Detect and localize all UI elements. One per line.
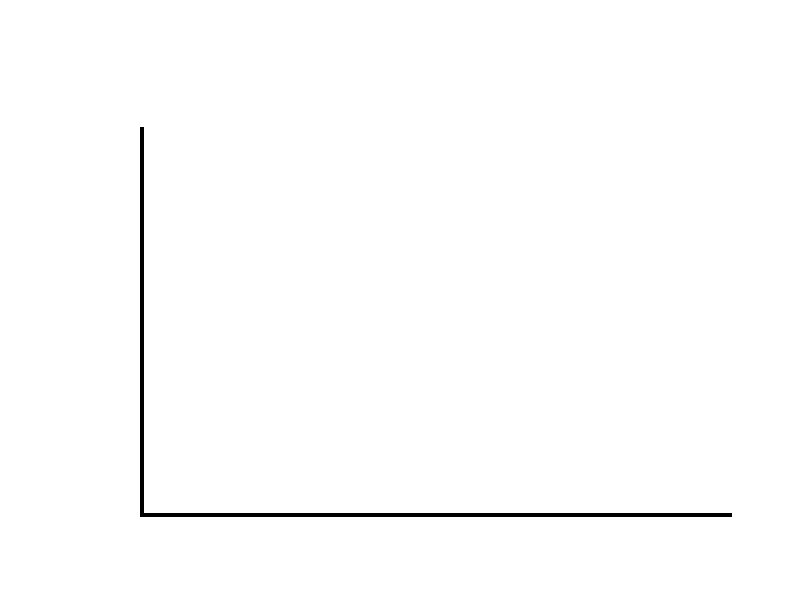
- axes: [140, 127, 732, 515]
- elisa-chart-figure: [0, 0, 800, 600]
- plot-area: [0, 0, 800, 600]
